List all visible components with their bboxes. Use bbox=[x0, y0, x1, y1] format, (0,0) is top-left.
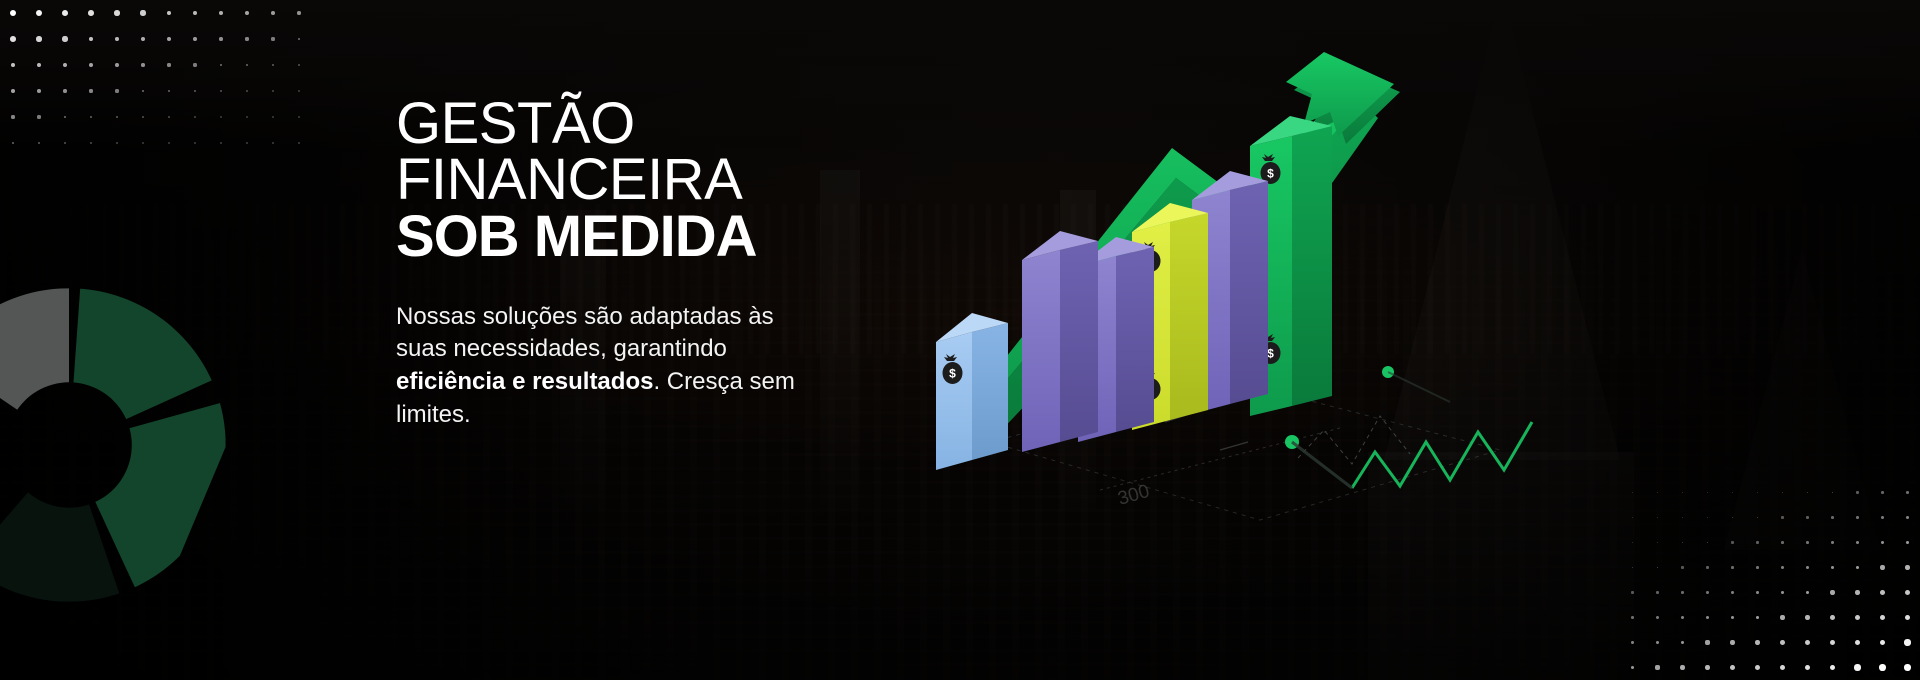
background-top-fade bbox=[0, 0, 1920, 150]
chart-bar-1 bbox=[936, 313, 1008, 470]
logo-petal-gray bbox=[0, 280, 69, 445]
description-emphasis: eficiência e resultados bbox=[396, 368, 653, 395]
headline-line-2: FINANCEIRA bbox=[396, 152, 826, 208]
hero-description: Nossas soluções são adaptadas às suas ne… bbox=[396, 265, 826, 432]
headline-line-1: GESTÃO bbox=[396, 96, 826, 152]
hero-copy-block: GESTÃO FINANCEIRA SOB MEDIDA Nossas solu… bbox=[396, 96, 826, 431]
hero-banner: GESTÃO FINANCEIRA SOB MEDIDA Nossas solu… bbox=[0, 0, 1920, 680]
page-title: GESTÃO FINANCEIRA SOB MEDIDA bbox=[396, 96, 826, 265]
chart-bar-2 bbox=[1022, 231, 1098, 452]
floor-label-300: 300 bbox=[1116, 481, 1152, 510]
description-part-1: Nossas soluções são adaptadas às suas ne… bbox=[396, 303, 774, 363]
brand-watermark-logo bbox=[0, 280, 234, 610]
headline-line-3: SOB MEDIDA bbox=[396, 209, 826, 265]
growth-chart-illustration: $ 100 300 bbox=[980, 50, 1540, 570]
